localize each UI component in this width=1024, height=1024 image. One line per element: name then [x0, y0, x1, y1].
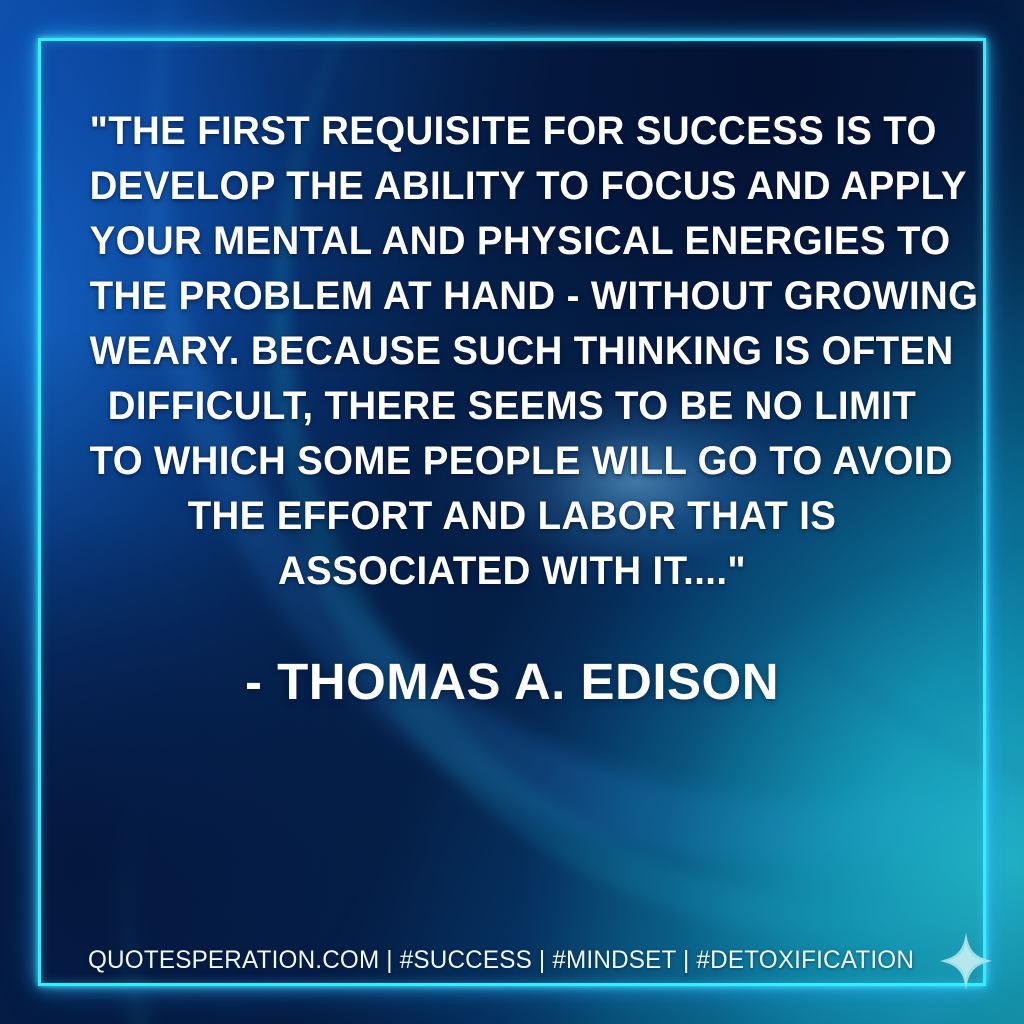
- footer-bar: QUOTESPERATION.COM | #SUCCESS | #MINDSET…: [88, 934, 968, 986]
- quote-line: "THE FIRST REQUISITE FOR SUCCESS IS TO: [90, 104, 935, 159]
- quote-attribution: - THOMAS A. EDISON: [72, 652, 952, 711]
- quote-line: THE PROBLEM AT HAND - WITHOUT GROWING: [90, 269, 935, 324]
- quote-poster: "THE FIRST REQUISITE FOR SUCCESS IS TO D…: [0, 0, 1024, 1024]
- quote-line: DIFFICULT, THERE SEEMS TO BE NO LIMIT: [90, 379, 935, 434]
- footer-credits-text: QUOTESPERATION.COM | #SUCCESS | #MINDSET…: [88, 946, 914, 975]
- quote-line: YOUR MENTAL AND PHYSICAL ENERGIES TO: [90, 214, 935, 269]
- quote-text-block: "THE FIRST REQUISITE FOR SUCCESS IS TO D…: [72, 104, 952, 599]
- quote-line: ASSOCIATED WITH IT....": [90, 544, 935, 599]
- quote-line: WEARY. BECAUSE SUCH THINKING IS OFTEN: [90, 324, 935, 379]
- quote-line: THE EFFORT AND LABOR THAT IS: [90, 489, 935, 544]
- quote-line: TO WHICH SOME PEOPLE WILL GO TO AVOID: [90, 434, 935, 489]
- poster-content: "THE FIRST REQUISITE FOR SUCCESS IS TO D…: [0, 0, 1024, 1024]
- quote-line: DEVELOP THE ABILITY TO FOCUS AND APPLY: [90, 159, 935, 214]
